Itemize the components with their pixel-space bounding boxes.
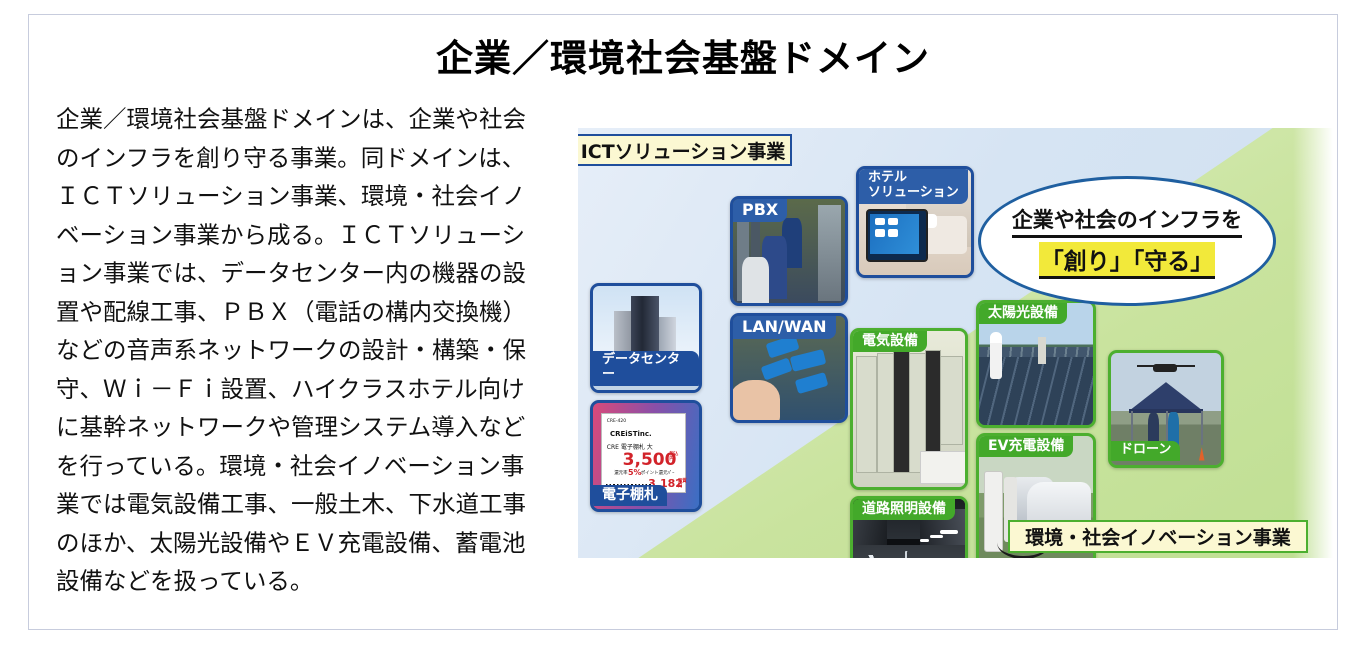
slide-page: 企業／環境社会基盤ドメイン 企業／環境社会基盤ドメインは、企業や社会のインフラを… — [0, 0, 1366, 646]
tile-electrical-equipment[interactable]: 電気設備 — [850, 328, 968, 490]
body-paragraph: 企業／環境社会基盤ドメインは、企業や社会のインフラを創り守る事業。同ドメインは、… — [56, 100, 526, 601]
callout-oval: 企業や社会のインフラを 「創り」「守る」 — [978, 176, 1276, 306]
shelf-tag-rate: 5% — [628, 468, 642, 477]
tile-hotel-solution[interactable]: ホテル ソリューション — [856, 166, 974, 278]
tile-hotel-solution-label: ホテル ソリューション — [859, 169, 968, 204]
tile-road-lighting[interactable]: 道路照明設備 — [850, 496, 968, 558]
tile-solar-power[interactable]: 太陽光設備 — [976, 300, 1096, 428]
page-title: 企業／環境社会基盤ドメイン — [0, 28, 1366, 82]
shelf-tag-price-unit: 税込円 — [669, 452, 679, 462]
right-fade — [1293, 128, 1333, 558]
callout-line1: 企業や社会のインフラを — [1012, 204, 1242, 238]
tile-datacenter-label: データセンター — [593, 351, 699, 386]
tile-shelf-tag[interactable]: CRE-420 CREiSTinc. CRE 電子棚札 大 3,500 税込円 … — [590, 400, 702, 512]
tile-solar-power-label: 太陽光設備 — [979, 303, 1067, 324]
electrical-equipment-icon — [853, 331, 965, 487]
tile-drone-label: ドローン — [1111, 441, 1180, 461]
shelf-tag-rate-label: 還元率 — [614, 470, 628, 476]
banner-ict-label: ICTソリューション事業 — [581, 137, 786, 164]
banner-ict-solution: ICTソリューション事業 — [578, 134, 792, 166]
domain-diagram: ICTソリューション事業 環境・社会イノベーション事業 企業や社会のインフラを … — [578, 128, 1333, 558]
tile-drone[interactable]: ドローン — [1108, 350, 1224, 468]
tile-ev-charging-label: EV充電設備 — [979, 436, 1073, 457]
callout-line2: 「創り」「守る」 — [1039, 242, 1216, 279]
tile-shelf-tag-label: 電子棚札 — [593, 485, 667, 506]
tile-lan-wan-label: LAN/WAN — [733, 316, 836, 339]
tile-electrical-equipment-label: 電気設備 — [853, 331, 927, 352]
banner-env-label: 環境・社会イノベーション事業 — [1025, 523, 1291, 550]
shelf-tag-model: CRE-420 — [607, 419, 626, 424]
shelf-tag-points-label: ポイント還元ﾊﾟｰ — [641, 470, 675, 476]
tile-road-lighting-label: 道路照明設備 — [853, 499, 955, 520]
banner-env-innovation: 環境・社会イノベーション事業 — [1008, 520, 1308, 553]
shelf-tag-net-unit: 実質円 — [678, 479, 687, 489]
tile-pbx-label: PBX — [733, 199, 787, 222]
tile-pbx[interactable]: PBX — [730, 196, 848, 306]
shelf-tag-brand: CREiSTinc. — [610, 430, 652, 438]
tile-lan-wan[interactable]: LAN/WAN — [730, 313, 848, 423]
tile-datacenter[interactable]: データセンター — [590, 283, 702, 393]
